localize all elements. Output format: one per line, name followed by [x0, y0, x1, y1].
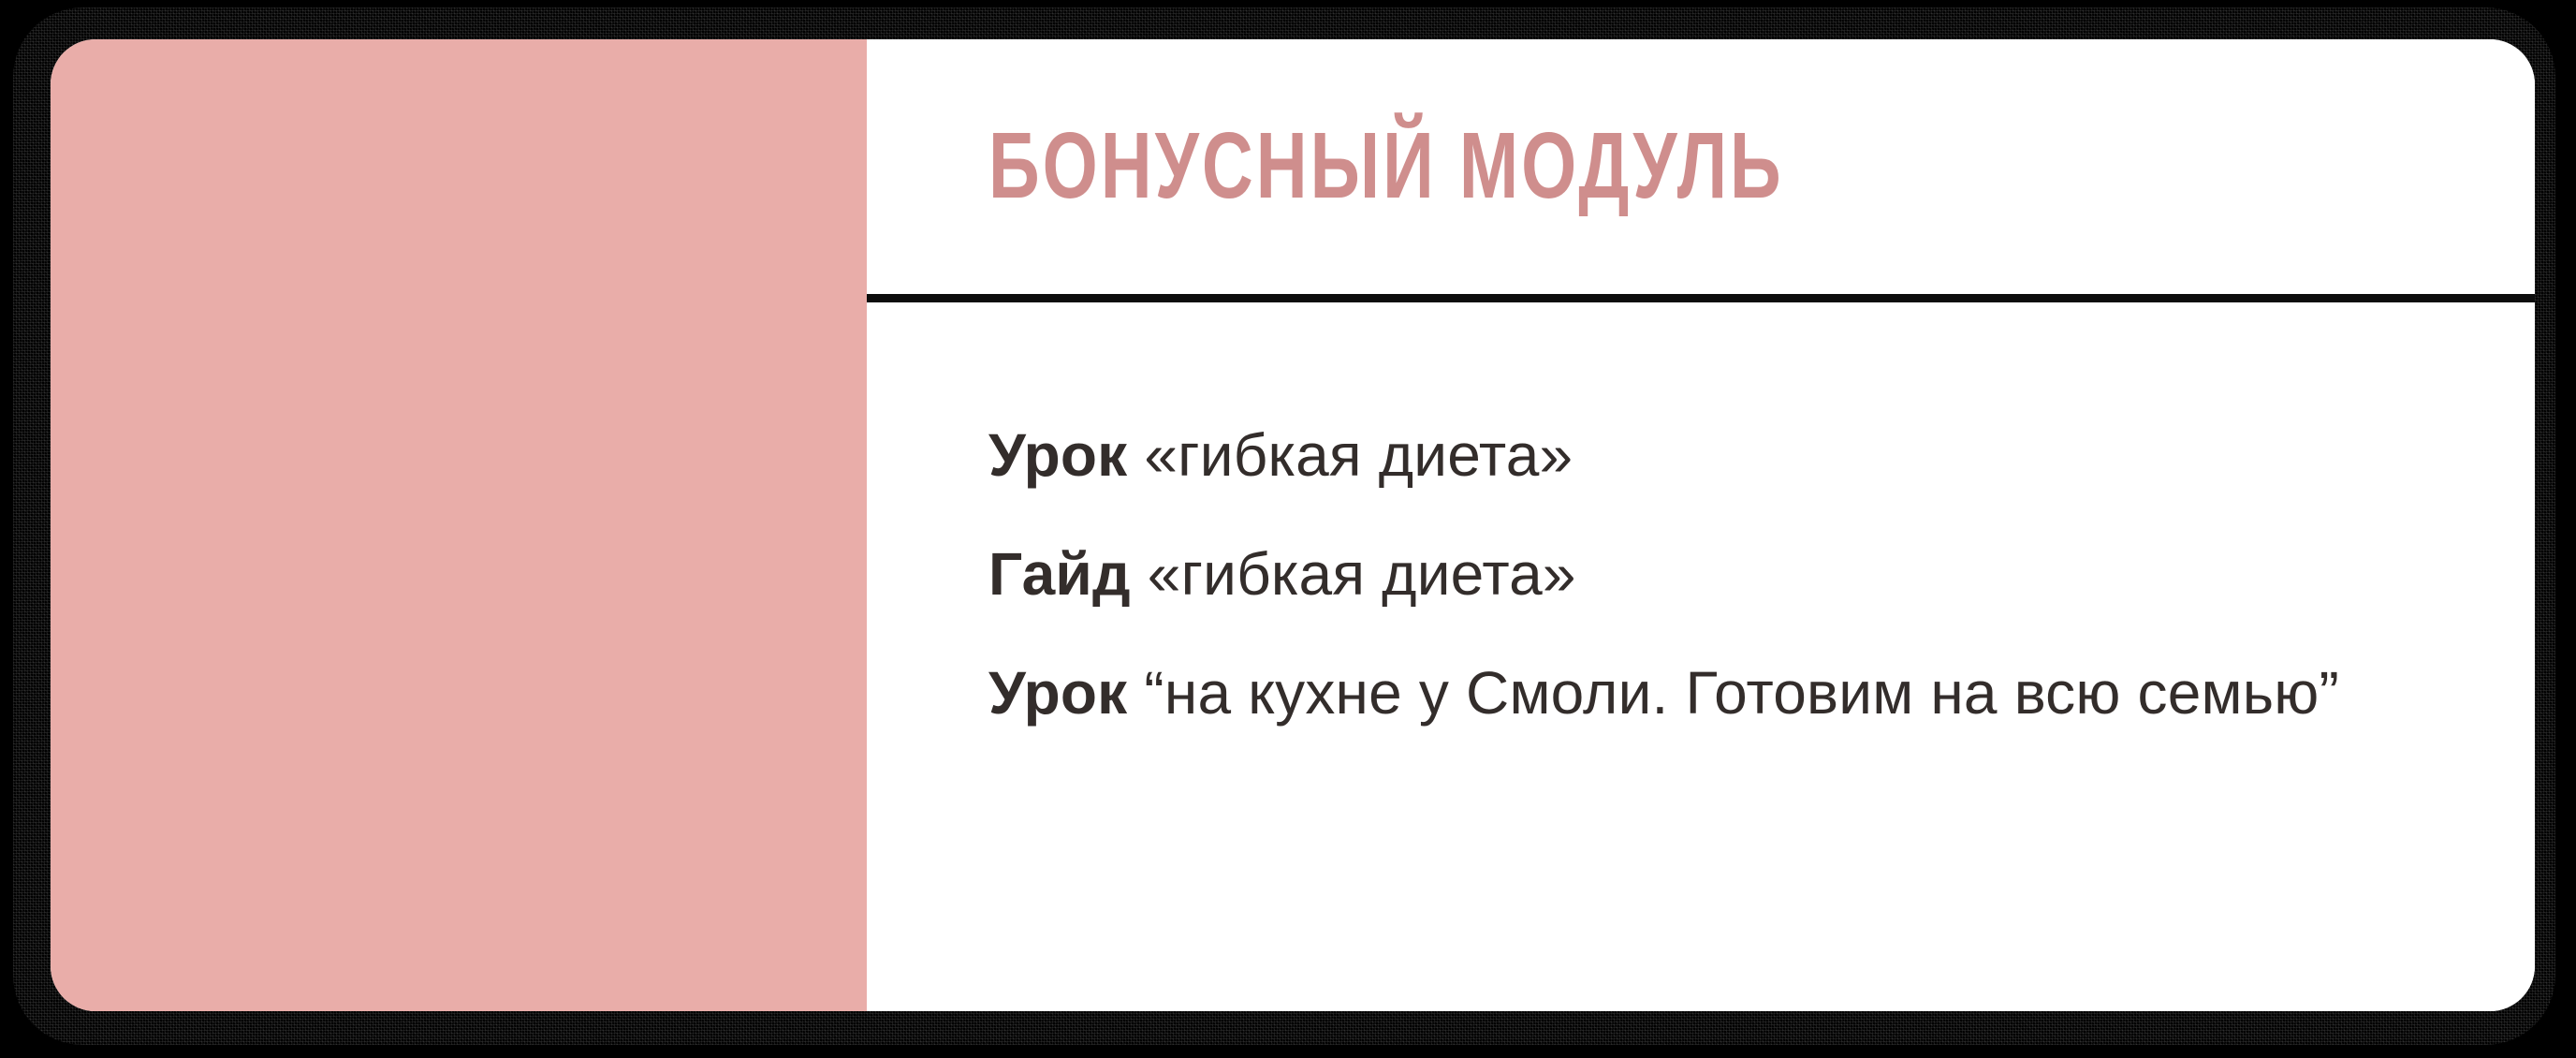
card-content-column: БОНУСНЫЙ МОДУЛЬ Урок «гибкая диета» Гайд… [867, 39, 2535, 1011]
list-item-rest: «гибкая диета» [1131, 540, 1576, 608]
page-title: БОНУСНЫЙ МОДУЛЬ [988, 120, 1784, 213]
card-title-area: БОНУСНЫЙ МОДУЛЬ [867, 39, 2535, 294]
decorative-pink-panel [51, 39, 867, 1011]
list-item-lead: Урок [988, 421, 1127, 489]
list-item-lead: Гайд [988, 540, 1131, 608]
card-outer-frame: БОНУСНЫЙ МОДУЛЬ Урок «гибкая диета» Гайд… [13, 7, 2555, 1045]
list-item-rest: “на кухне у Смоли. Готовим на всю семью” [1127, 659, 2339, 727]
list-item-rest: «гибкая диета» [1127, 421, 1573, 489]
list-item: Урок «гибкая диета» [988, 417, 2432, 494]
list-item: Урок “на кухне у Смоли. Готовим на всю с… [988, 654, 2432, 732]
bonus-module-card: БОНУСНЫЙ МОДУЛЬ Урок «гибкая диета» Гайд… [51, 39, 2535, 1011]
list-item-lead: Урок [988, 659, 1127, 727]
title-divider [867, 294, 2535, 302]
module-item-list: Урок «гибкая диета» Гайд «гибкая диета» … [867, 302, 2535, 1011]
list-item: Гайд «гибкая диета» [988, 536, 2432, 613]
